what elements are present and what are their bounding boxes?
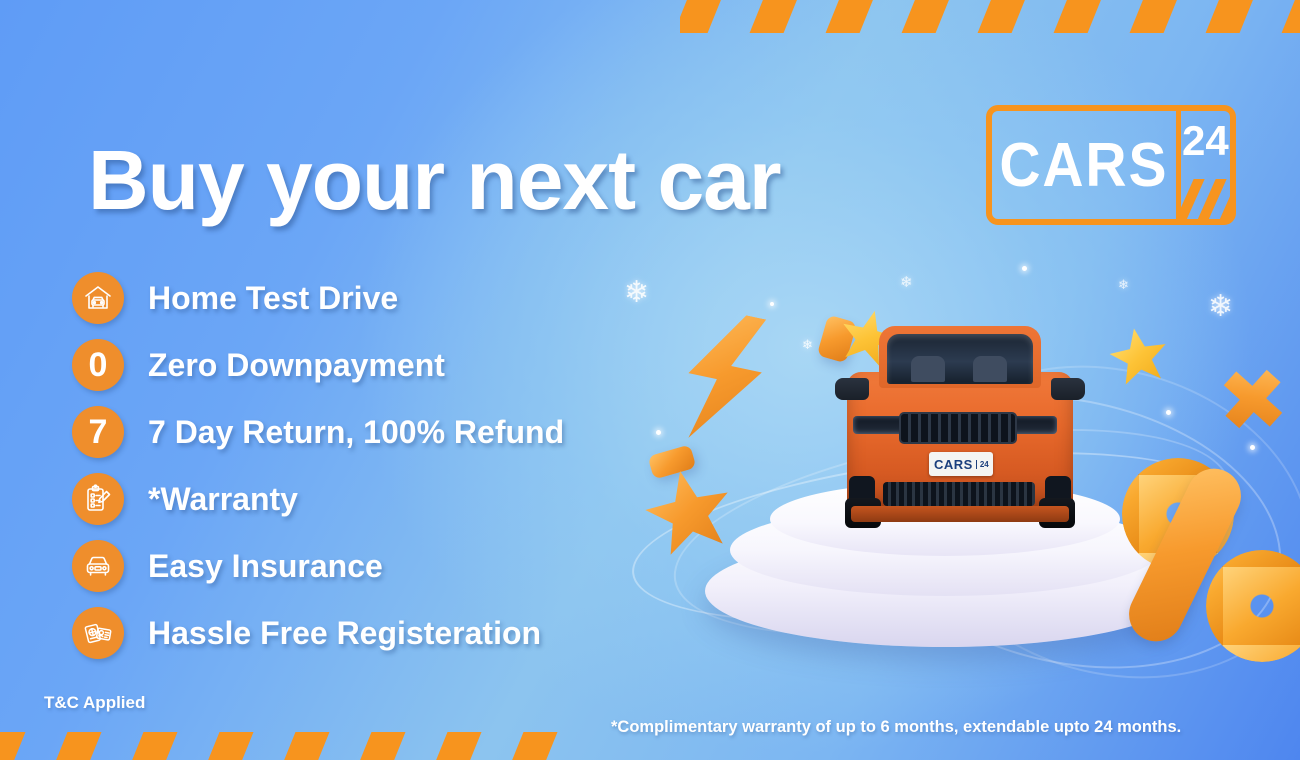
hero-illustration: ❄ ❄ ❄ ❄ ❄ ❄ ❄ [610,250,1300,670]
lightning-bolt-icon [656,302,793,454]
sparkle-dot [1250,445,1255,450]
list-item: 7 7 Day Return, 100% Refund [72,406,564,458]
advertisement-banner: Buy your next car CARS 24 [0,0,1300,760]
terms-note: T&C Applied [44,693,145,713]
logo-number-box: 24 [1181,111,1230,219]
logo-number: 24 [1182,117,1229,165]
list-item: 0 Zero Downpayment [72,339,564,391]
car-windshield [887,334,1033,384]
car-mirror-right [1051,378,1085,400]
disclaimer-text: *Complimentary warranty of up to 6 month… [611,718,1181,737]
car-mirror-left [835,378,869,400]
snowflake-icon: ❄ [1118,278,1129,291]
feature-label: Hassle Free Registeration [148,615,541,652]
feature-label: Home Test Drive [148,280,398,317]
logo-word-box: CARS [992,111,1181,219]
car-grille [899,412,1017,444]
home-test-drive-icon [72,272,124,324]
list-item: Hassle Free Registeration [72,607,564,659]
badge-number: 0 [89,348,108,382]
feature-list: Home Test Drive 0 Zero Downpayment 7 7 D… [72,272,564,674]
car-lower-intake [883,482,1035,506]
feature-label: *Warranty [148,481,298,518]
top-stripe-band [680,0,1300,33]
clipboard-pencil-icon [72,473,124,525]
seven-icon: 7 [72,406,124,458]
zero-icon: 0 [72,339,124,391]
snowflake-icon: ❄ [624,278,649,308]
feature-label: 7 Day Return, 100% Refund [148,414,564,451]
license-plate: CARS 24 [929,452,993,476]
documents-icon [72,607,124,659]
bolt-fragment [648,444,697,479]
bottom-stripe-band [0,732,585,760]
car-skirt [851,506,1069,522]
sparkle-dot [1022,266,1027,271]
car-seat [973,356,1007,382]
badge-number: 7 [89,415,108,449]
sparkle-dot [656,430,661,435]
list-item: Home Test Drive [72,272,564,324]
sparkle-dot [770,302,774,306]
feature-label: Zero Downpayment [148,347,445,384]
car-illustration: CARS 24 [835,320,1085,535]
list-item: Easy Insurance [72,540,564,592]
snowflake-icon: ❄ [802,338,813,351]
car-seat [911,356,945,382]
page-title: Buy your next car [88,132,781,229]
sparkle-dot [1166,410,1171,415]
cars24-logo: CARS 24 [986,105,1236,225]
license-plate-badge: 24 [976,460,989,469]
license-plate-text: CARS [934,457,973,472]
feature-label: Easy Insurance [148,548,383,585]
car-front-icon [72,540,124,592]
logo-word: CARS [999,130,1168,201]
list-item: *Warranty [72,473,564,525]
logo-hatch-stripes [1181,179,1230,219]
snowflake-icon: ❄ [1208,292,1233,322]
snowflake-icon: ❄ [900,275,913,290]
